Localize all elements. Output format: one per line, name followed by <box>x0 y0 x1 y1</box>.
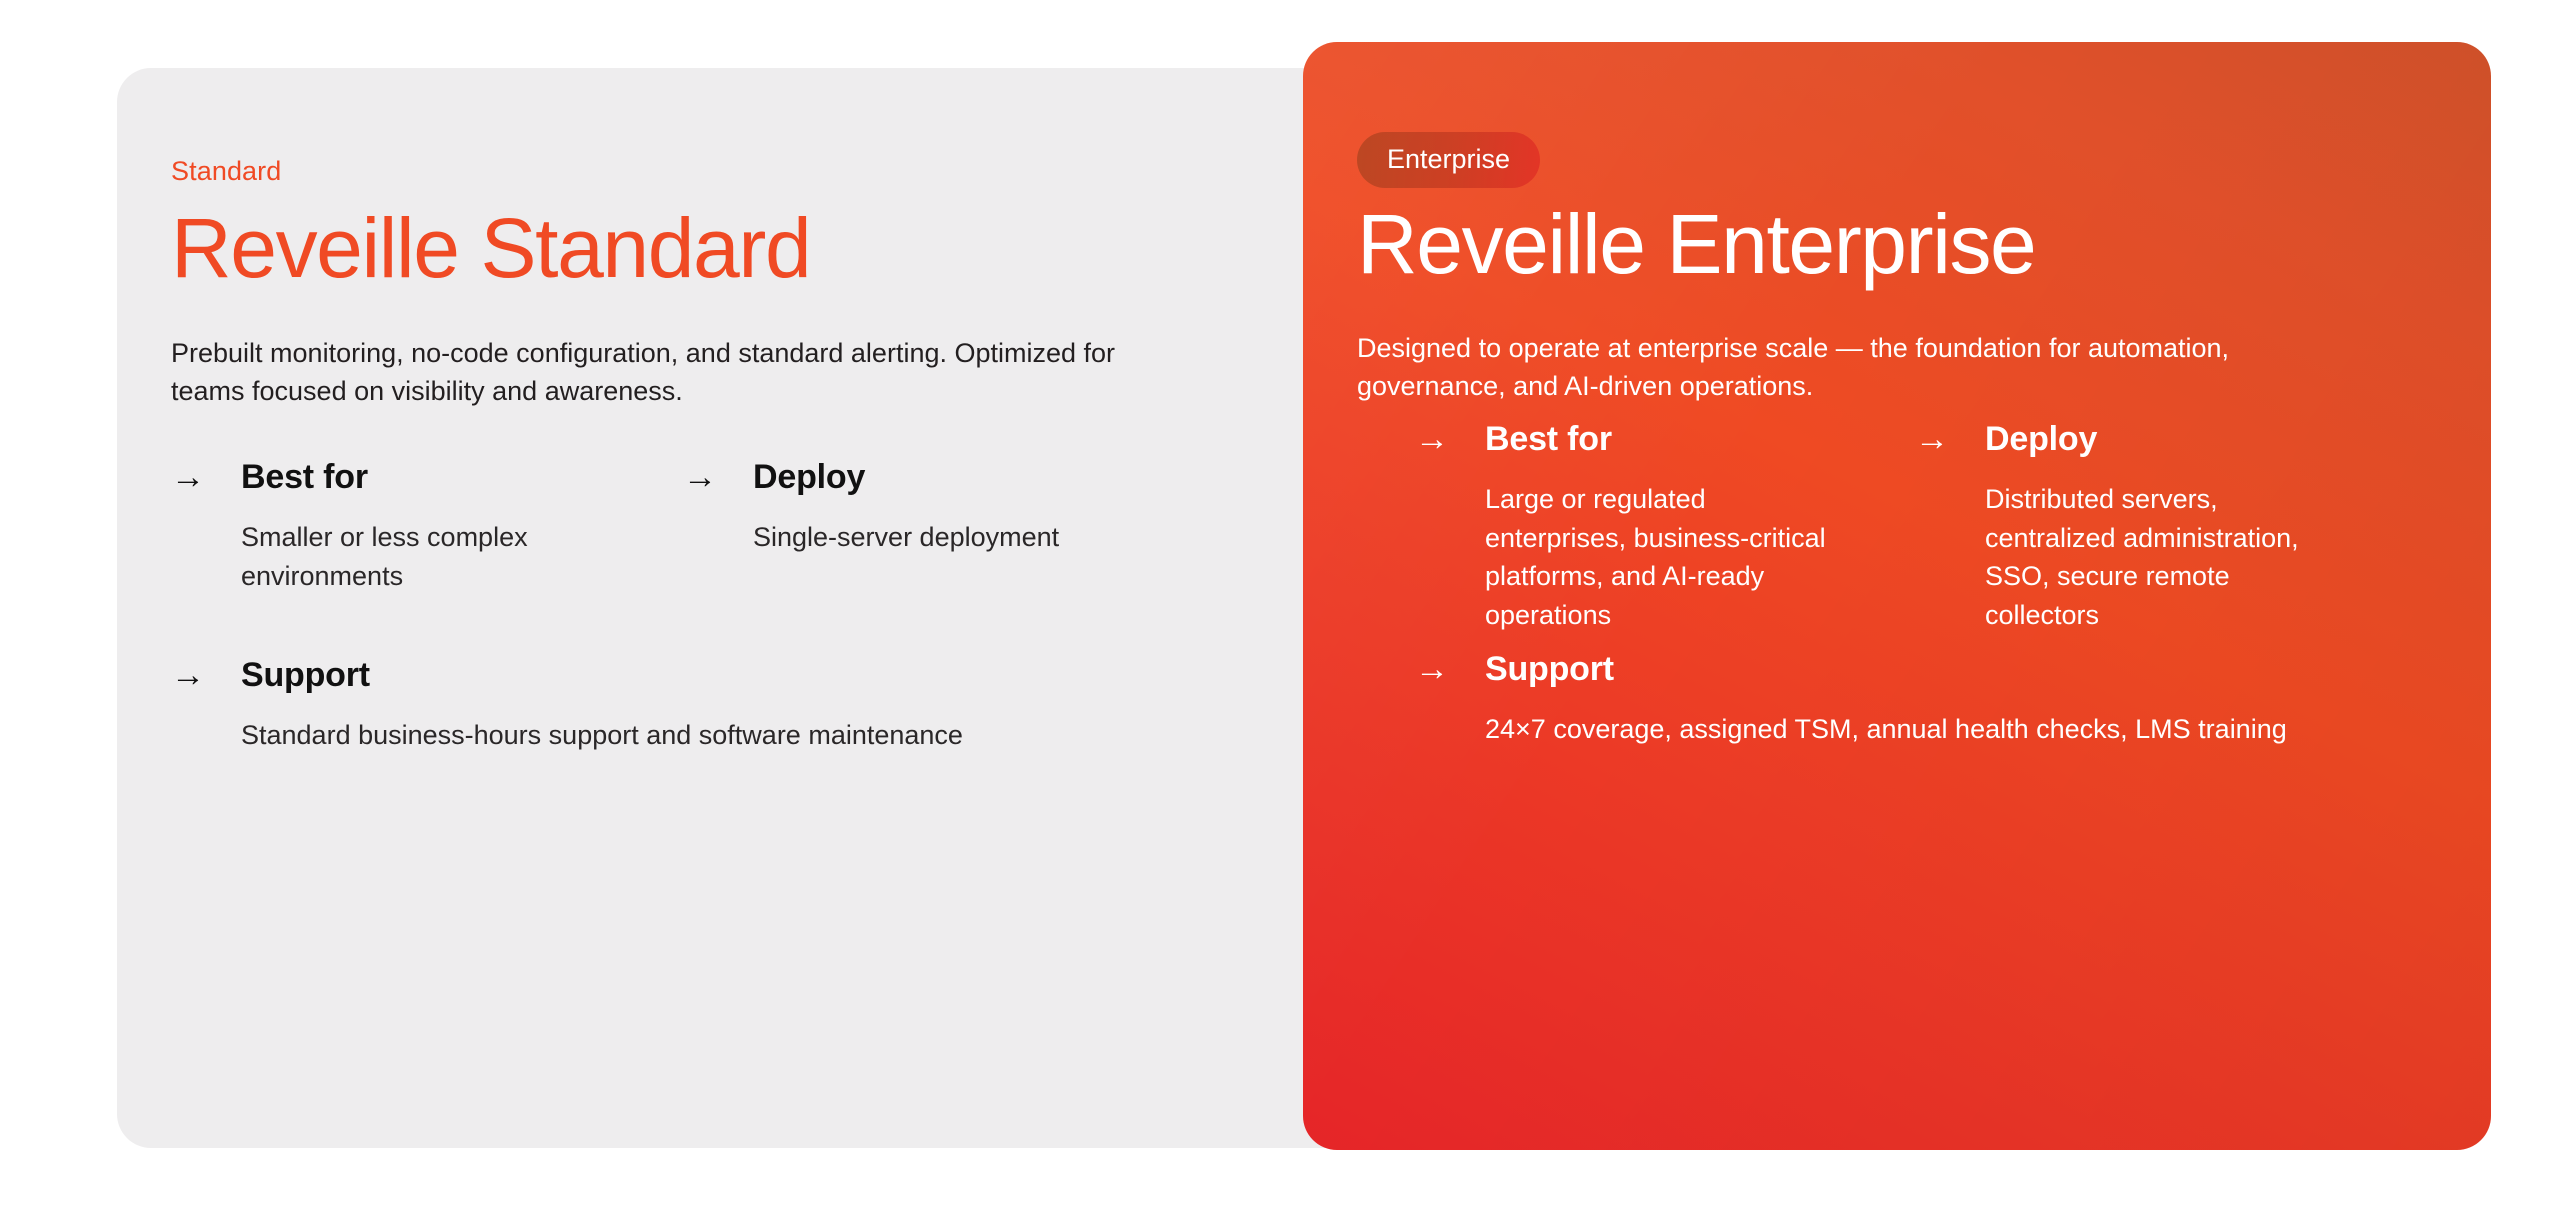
enterprise-feature-support-title: Support <box>1485 652 1614 686</box>
enterprise-features-row: → Best for Large or regulated enterprise… <box>1415 422 2435 634</box>
standard-feature-best-for: → Best for Smaller or less complex envir… <box>171 460 683 595</box>
standard-feature-best-for-body: Smaller or less complex environments <box>241 518 683 595</box>
arrow-right-icon: → <box>1415 652 1463 686</box>
enterprise-feature-best-for-title: Best for <box>1485 422 1612 456</box>
enterprise-plan-title: Reveille Enterprise <box>1357 202 2447 288</box>
standard-feature-support-body: Standard business-hours support and soft… <box>241 716 1161 755</box>
enterprise-badge: Enterprise <box>1357 132 1540 188</box>
enterprise-plan-description: Designed to operate at enterprise scale … <box>1357 329 2357 406</box>
arrow-right-icon: → <box>171 460 219 494</box>
standard-features-row: → Best for Smaller or less complex envir… <box>171 460 1321 595</box>
standard-feature-support-head: → Support <box>171 658 1271 692</box>
standard-plan-card: Standard Reveille Standard Prebuilt moni… <box>117 68 1387 1148</box>
comparison-cards-stage: Standard Reveille Standard Prebuilt moni… <box>0 0 2560 1219</box>
enterprise-feature-support: → Support 24×7 coverage, assigned TSM, a… <box>1415 652 2395 749</box>
standard-feature-support: → Support Standard business-hours suppor… <box>171 658 1271 755</box>
standard-plan-description: Prebuilt monitoring, no-code configurati… <box>171 334 1181 411</box>
standard-feature-deploy-title: Deploy <box>753 460 865 494</box>
standard-feature-best-for-title: Best for <box>241 460 368 494</box>
standard-feature-deploy-head: → Deploy <box>683 460 1223 494</box>
arrow-right-icon: → <box>1915 422 1963 456</box>
enterprise-feature-best-for-head: → Best for <box>1415 422 1915 456</box>
enterprise-plan-card: Enterprise Reveille Enterprise Designed … <box>1303 42 2491 1150</box>
enterprise-feature-support-head: → Support <box>1415 652 2395 686</box>
standard-feature-support-title: Support <box>241 658 370 692</box>
standard-eyebrow-label: Standard <box>171 158 1291 185</box>
arrow-right-icon: → <box>683 460 731 494</box>
enterprise-header: Enterprise Reveille Enterprise Designed … <box>1357 132 2447 405</box>
standard-feature-deploy-body: Single-server deployment <box>753 518 1223 557</box>
standard-plan-title: Reveille Standard <box>171 206 1291 292</box>
arrow-right-icon: → <box>171 658 219 692</box>
arrow-right-icon: → <box>1415 422 1463 456</box>
standard-feature-deploy: → Deploy Single-server deployment <box>683 460 1223 595</box>
enterprise-features-grid: → Best for Large or regulated enterprise… <box>1415 422 2435 634</box>
enterprise-feature-best-for: → Best for Large or regulated enterprise… <box>1415 422 1915 634</box>
enterprise-feature-deploy-title: Deploy <box>1985 422 2097 456</box>
enterprise-feature-deploy-body: Distributed servers, centralized adminis… <box>1985 480 2345 634</box>
standard-feature-best-for-head: → Best for <box>171 460 683 494</box>
enterprise-feature-best-for-body: Large or regulated enterprises, business… <box>1485 480 1845 634</box>
enterprise-feature-support-body: 24×7 coverage, assigned TSM, annual heal… <box>1485 710 2355 749</box>
enterprise-feature-deploy-head: → Deploy <box>1915 422 2415 456</box>
standard-features-grid: → Best for Smaller or less complex envir… <box>171 460 1321 595</box>
standard-header: Standard Reveille Standard Prebuilt moni… <box>171 158 1291 410</box>
enterprise-feature-deploy: → Deploy Distributed servers, centralize… <box>1915 422 2415 634</box>
